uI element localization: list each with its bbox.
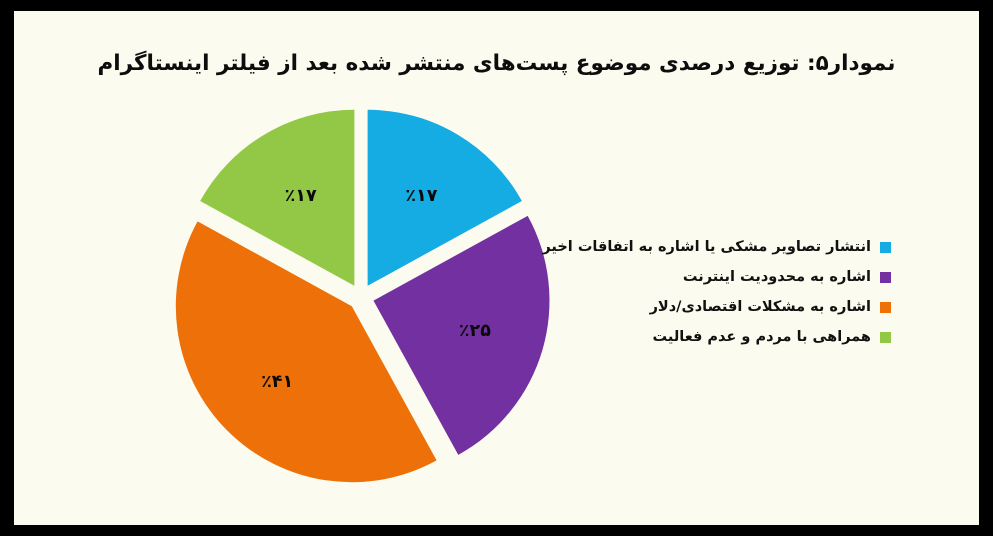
legend-item[interactable]: اشاره به مشکلات اقتصادی/دلار: [631, 295, 891, 320]
legend-item[interactable]: اشاره به محدودیت اینترنت: [631, 265, 891, 290]
pie-slice-value-label: ٪۴۱: [261, 372, 293, 392]
pie-slice-group: [176, 110, 550, 482]
legend-item[interactable]: انتشار تصاویر مشکی یا اشاره به اتفاقات ا…: [631, 235, 891, 260]
legend-color-swatch: [880, 332, 891, 343]
pie-chart: ٪۱۷٪۲۵٪۴۱٪۱۷: [139, 99, 579, 499]
chart-canvas: نمودار۵: توزیع درصدی موضوع پست‌های منتشر…: [14, 11, 979, 525]
legend-color-swatch: [880, 242, 891, 253]
pie-slice-value-label: ٪۱۷: [405, 186, 437, 206]
pie-svg: ٪۱۷٪۲۵٪۴۱٪۱۷: [139, 99, 579, 499]
chart-legend: انتشار تصاویر مشکی یا اشاره به اتفاقات ا…: [631, 235, 891, 355]
pie-slice-value-label: ٪۱۷: [285, 186, 317, 206]
legend-item-label: اشاره به محدودیت اینترنت: [683, 270, 871, 285]
legend-item-label: انتشار تصاویر مشکی یا اشاره به اتفاقات ا…: [542, 240, 871, 255]
pie-slice-value-label: ٪۲۵: [459, 321, 491, 341]
page-title: نمودار۵: توزیع درصدی موضوع پست‌های منتشر…: [14, 49, 979, 78]
legend-color-swatch: [880, 302, 891, 313]
legend-item-label: اشاره به مشکلات اقتصادی/دلار: [650, 300, 871, 315]
legend-color-swatch: [880, 272, 891, 283]
legend-item[interactable]: همراهی با مردم و عدم فعالیت: [631, 325, 891, 350]
figure-frame: نمودار۵: توزیع درصدی موضوع پست‌های منتشر…: [0, 0, 993, 536]
legend-item-label: همراهی با مردم و عدم فعالیت: [653, 330, 871, 345]
